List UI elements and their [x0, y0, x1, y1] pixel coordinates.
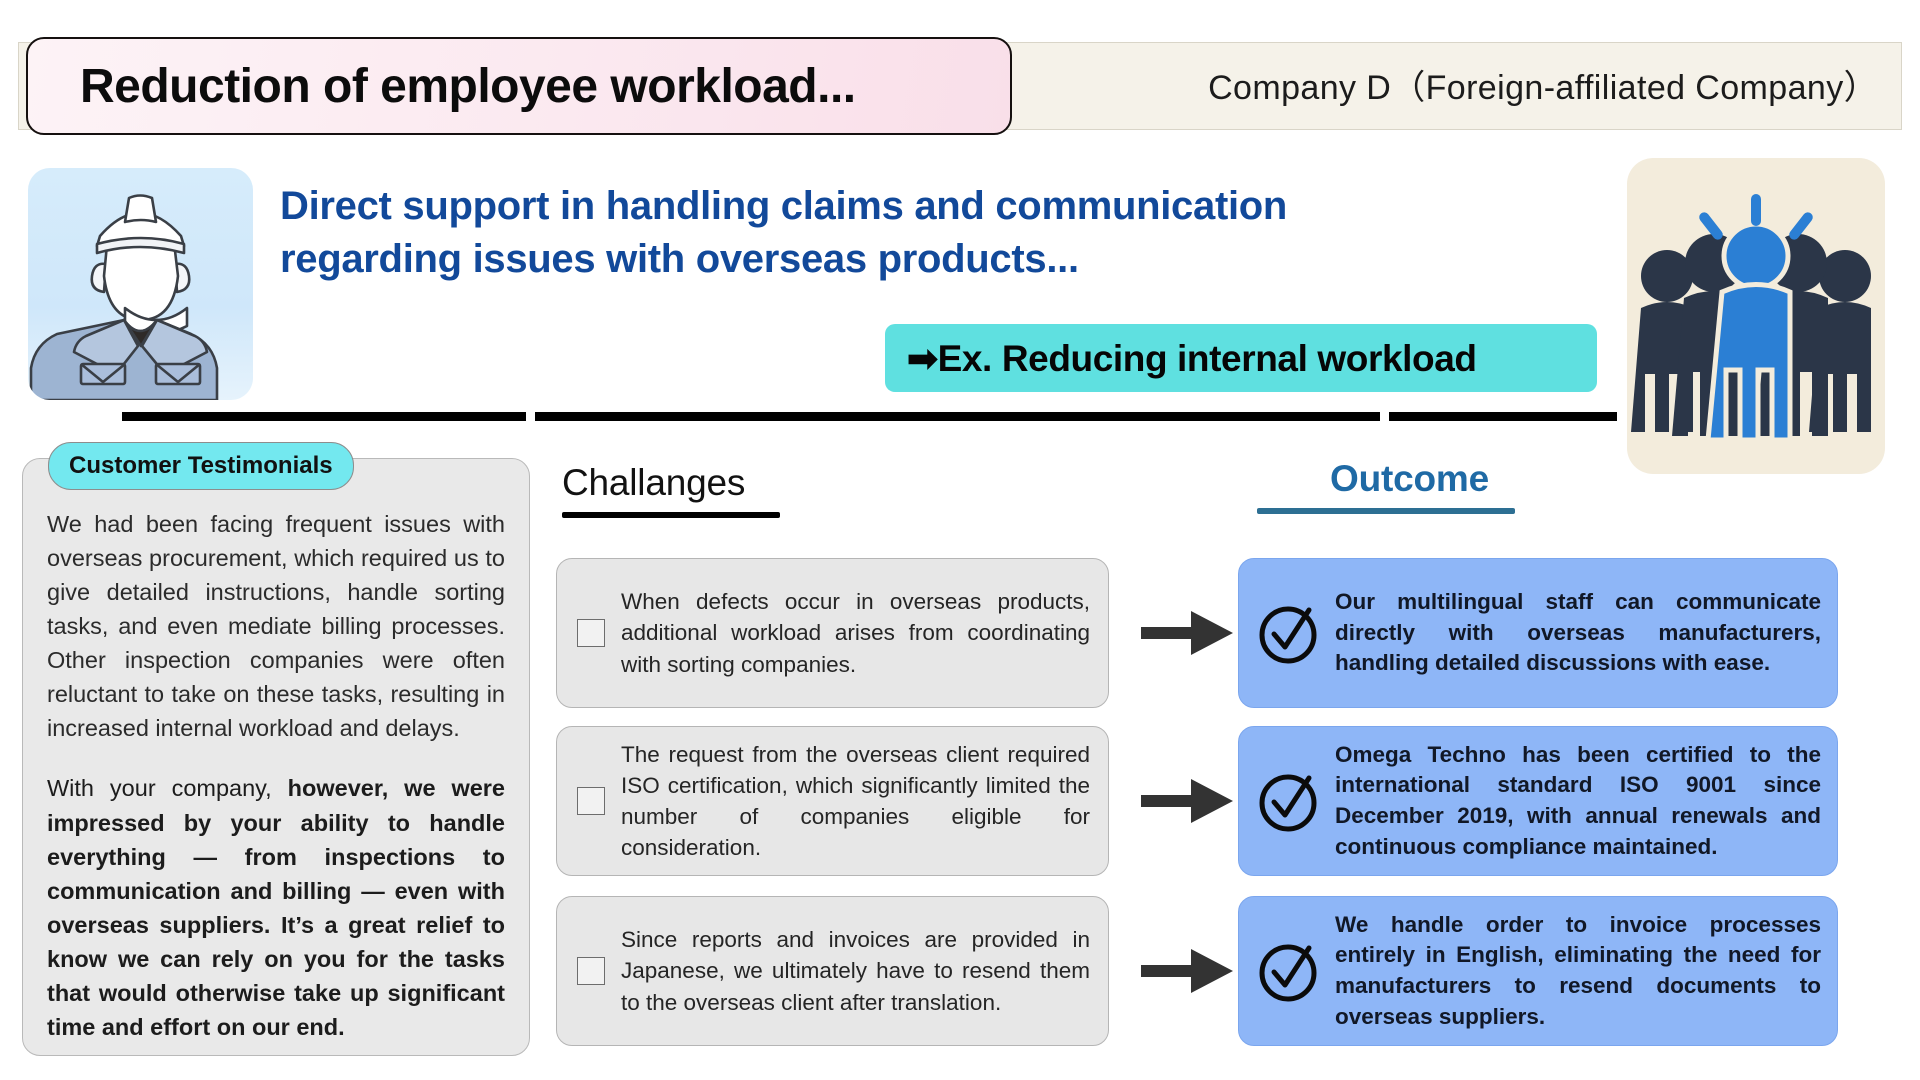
- challenge-text: The request from the overseas client req…: [621, 739, 1090, 863]
- checkbox-icon[interactable]: [577, 619, 605, 647]
- check-circle-icon: [1253, 598, 1323, 668]
- outcome-text: We handle order to invoice processes ent…: [1335, 910, 1821, 1032]
- comparison-row: The request from the overseas client req…: [556, 726, 1896, 876]
- checkbox-icon[interactable]: [577, 787, 605, 815]
- challenge-text: Since reports and invoices are provided …: [621, 924, 1090, 1017]
- outcome-card: We handle order to invoice processes ent…: [1238, 896, 1838, 1046]
- worker-avatar-icon: [28, 168, 253, 400]
- testimonial-paragraph-2: With your company, however, we were impr…: [47, 771, 505, 1044]
- page-title: Reduction of employee workload...: [80, 59, 856, 114]
- testimonial-tag: Customer Testimonials: [48, 442, 354, 490]
- page-title-pill: Reduction of employee workload...: [26, 37, 1012, 135]
- challenge-card: When defects occur in overseas products,…: [556, 558, 1109, 708]
- testimonial-paragraph-2-bold: however, we were impressed by your abili…: [47, 775, 505, 1039]
- check-circle-icon: [1253, 936, 1323, 1006]
- company-name: Company D（Foreign-affiliated Company）: [1208, 60, 1878, 109]
- column-heading-challenges-label: Challanges: [562, 462, 745, 503]
- comparison-row: When defects occur in overseas products,…: [556, 558, 1896, 708]
- hero-heading: Direct support in handling claims and co…: [280, 180, 1400, 286]
- arrow-right-icon: [1141, 775, 1233, 827]
- column-heading-outcome-label: Outcome: [1330, 458, 1489, 499]
- section-divider: [122, 412, 1617, 421]
- divider-gap: [1380, 412, 1389, 421]
- column-heading-challenges: Challanges: [562, 462, 780, 518]
- outcome-card: Our multilingual staff can communicate d…: [1238, 558, 1838, 708]
- arrow-right-icon: [1141, 945, 1233, 997]
- challenge-card: The request from the overseas client req…: [556, 726, 1109, 876]
- challenges-underline: [562, 512, 780, 518]
- testimonial-panel: We had been facing frequent issues with …: [22, 458, 530, 1056]
- team-group-icon: [1627, 158, 1885, 474]
- comparison-row: Since reports and invoices are provided …: [556, 896, 1896, 1046]
- challenge-text: When defects occur in overseas products,…: [621, 586, 1090, 679]
- testimonial-paragraph-1: We had been facing frequent issues with …: [47, 507, 505, 745]
- example-badge-label: ➡Ex. Reducing internal workload: [907, 337, 1477, 380]
- arrow-right-icon: [1141, 607, 1233, 659]
- hero-heading-line-1: Direct support in handling claims and co…: [280, 180, 1400, 233]
- outcome-text: Omega Techno has been certified to the i…: [1335, 740, 1821, 862]
- divider-gap: [526, 412, 535, 421]
- check-circle-icon: [1253, 766, 1323, 836]
- outcome-text: Our multilingual staff can communicate d…: [1335, 587, 1821, 679]
- challenge-card: Since reports and invoices are provided …: [556, 896, 1109, 1046]
- outcome-underline: [1257, 508, 1515, 514]
- example-badge: ➡Ex. Reducing internal workload: [885, 324, 1597, 392]
- hero-heading-line-2: regarding issues with overseas products.…: [280, 233, 1400, 286]
- outcome-card: Omega Techno has been certified to the i…: [1238, 726, 1838, 876]
- column-heading-outcome: Outcome: [1330, 458, 1515, 514]
- testimonial-paragraph-2-lead: With your company,: [47, 775, 288, 801]
- checkbox-icon[interactable]: [577, 957, 605, 985]
- testimonial-tag-label: Customer Testimonials: [69, 452, 333, 480]
